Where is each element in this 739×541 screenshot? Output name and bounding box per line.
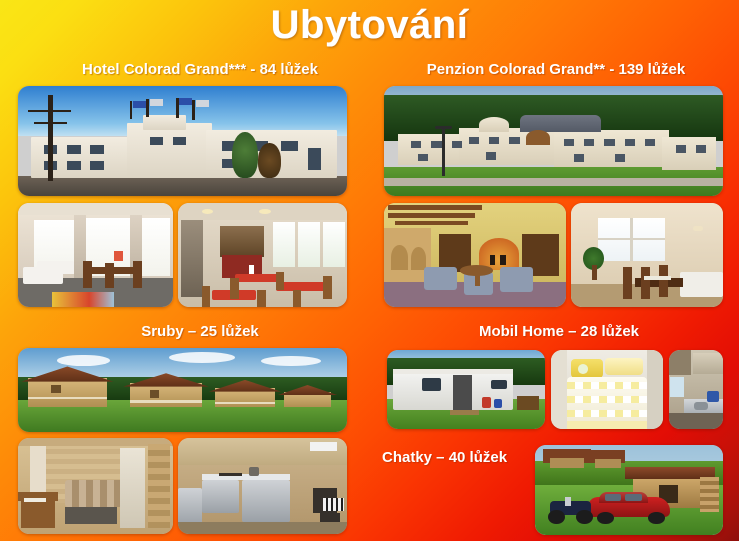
page-title: Ubytování (0, 2, 739, 48)
section-heading-chatky: Chatky – 40 lůžek (382, 448, 522, 468)
photo-sruby-interior[interactable] (18, 438, 173, 534)
section-heading-hotel: Hotel Colorad Grand*** - 84 lůžek (38, 60, 362, 80)
section-heading-penzion: Penzion Colorad Grand** - 139 lůžek (392, 60, 720, 80)
photo-penzion-exterior[interactable] (384, 86, 723, 196)
photo-hotel-room[interactable] (18, 203, 173, 307)
photo-penzion-room[interactable] (571, 203, 723, 307)
section-heading-sruby: Sruby – 25 lůžek (38, 322, 362, 342)
photo-mobil-home-bedroom[interactable] (551, 350, 663, 429)
photo-sruby-exterior[interactable] (18, 348, 347, 432)
section-heading-mobil-home: Mobil Home – 28 lůžek (398, 322, 720, 342)
photo-hotel-restaurant[interactable] (178, 203, 347, 307)
photo-penzion-lobby[interactable] (384, 203, 566, 307)
photo-hotel-exterior[interactable] (18, 86, 347, 196)
photo-mobil-home-exterior[interactable] (387, 350, 545, 429)
photo-chatky-exterior[interactable] (535, 445, 723, 535)
photo-mobil-home-kitchen[interactable] (669, 350, 723, 429)
accommodation-slide: Ubytování Hotel Colorad Grand*** - 84 lů… (0, 0, 739, 541)
photo-sruby-kitchen[interactable] (178, 438, 347, 534)
